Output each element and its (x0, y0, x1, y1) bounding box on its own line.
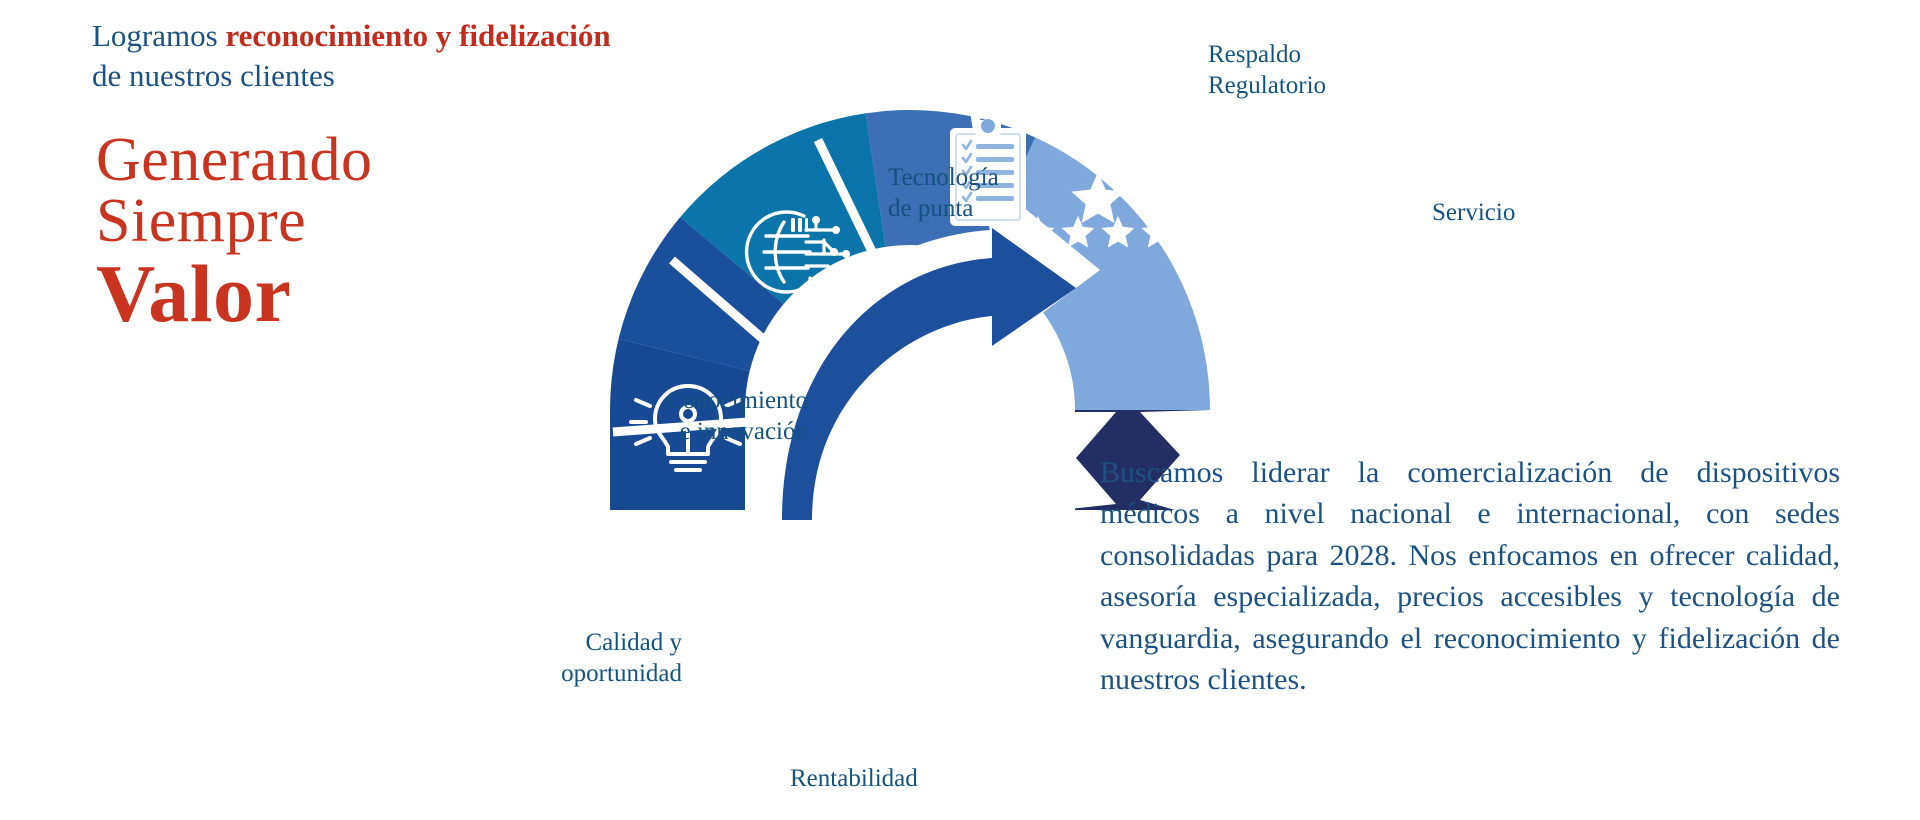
headline-part2: de nuestros clientes (92, 58, 335, 93)
dollar-sign-3: $ (896, 693, 913, 726)
headline-accent: reconocimiento y fidelización (225, 18, 610, 53)
headline-part1: Logramos (92, 18, 225, 53)
arc-label-conocimiento: Conocimiento e innovación (618, 386, 808, 447)
checklist-dollar-icon: $ $ $ (835, 601, 913, 726)
page-title: Generando Siempre Valor (96, 130, 576, 334)
arc-label-respaldo: Respaldo Regulatorio (1208, 40, 1326, 101)
arc-label-calidad: Calidad y oportunidad (548, 628, 682, 689)
dollar-sign-2: $ (896, 647, 913, 680)
dollar-sign-1: $ (896, 601, 913, 634)
arc-label-servicio: Servicio (1432, 198, 1515, 229)
arc-label-rentabilidad: Rentabilidad (790, 764, 918, 795)
title-line-1: Generando (96, 130, 576, 191)
arc-label-tecnologia: Tecnología de punta (888, 163, 999, 224)
mission-statement: Buscamos liderar la comercialización de … (1100, 452, 1840, 700)
title-line-3: Valor (96, 254, 576, 334)
title-line-2: Siempre (96, 191, 576, 252)
